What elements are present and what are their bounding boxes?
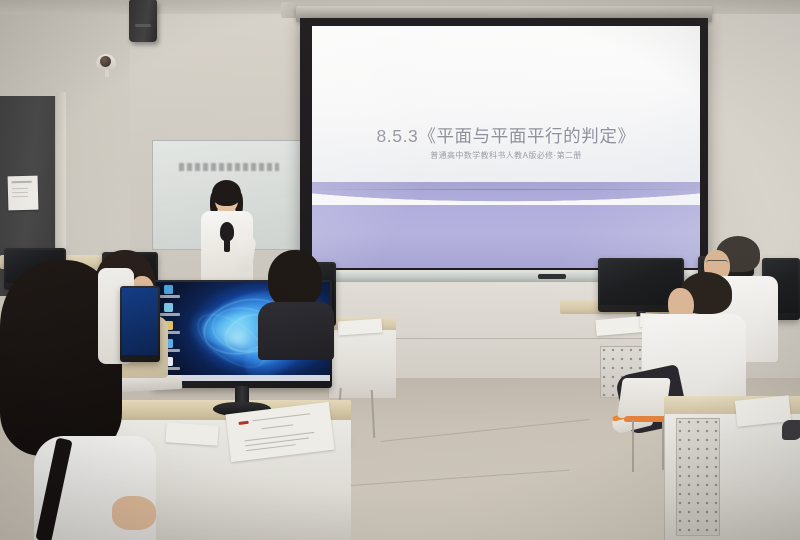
glass-panel-text — [179, 163, 279, 171]
monitor-bezel — [120, 286, 160, 362]
eyeglasses-icon — [706, 260, 728, 266]
wall-speaker-icon — [129, 0, 157, 42]
pc-enclosure — [676, 418, 720, 536]
student-arm — [112, 496, 156, 530]
projector-screen-frame: 8.5.3《平面与平面平行的判定》 普通高中数学教科书人教A版必修·第二册 — [300, 18, 708, 278]
projected-slide: 8.5.3《平面与平面平行的判定》 普通高中数学教科书人教A版必修·第二册 — [312, 26, 700, 268]
document-logo — [238, 421, 248, 425]
screen-wall-bracket — [281, 2, 297, 18]
monitor-left-back — [120, 286, 160, 362]
camera-lens — [100, 56, 111, 67]
document-title-line — [252, 413, 310, 421]
document-line — [245, 432, 315, 442]
classroom-photo-scene: 8.5.3《平面与平面平行的判定》 普通高中数学教科书人教A版必修·第二册 — [0, 0, 800, 540]
student-mid-left — [256, 250, 342, 360]
presenter-hair — [212, 180, 241, 206]
chair-back — [617, 378, 671, 418]
chair-leg — [632, 420, 634, 472]
document-line — [261, 424, 293, 429]
student-hair — [268, 250, 322, 308]
marker-pen — [538, 274, 566, 279]
presenter-bow-tie — [220, 222, 234, 241]
security-camera-icon — [96, 52, 118, 74]
slide-book-crease — [312, 189, 700, 191]
presenter-teacher — [196, 180, 258, 290]
desk-paper — [165, 422, 218, 446]
monitor-screen — [122, 288, 158, 355]
slide-title: 8.5.3《平面与平面平行的判定》 — [312, 123, 700, 148]
student-top — [258, 302, 334, 360]
slide-subtitle: 普通高中数学教科书人教A版必修·第二册 — [312, 150, 700, 161]
door-notice-paper — [8, 176, 39, 211]
computer-mouse-icon — [782, 420, 800, 440]
slide-book-pages — [312, 175, 700, 205]
